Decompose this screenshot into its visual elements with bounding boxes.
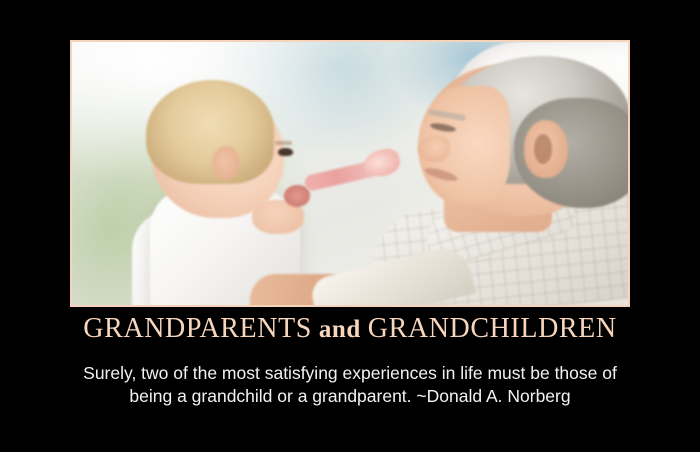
title-prefix: GRANDPARENTS (83, 313, 312, 344)
child-eye (278, 148, 293, 156)
title-conjunction: and (312, 316, 368, 343)
quote-line-2: being a grandchild or a grandparent. ~Do… (18, 385, 682, 408)
photo-frame (70, 40, 630, 307)
child-hair (146, 80, 274, 184)
title-suffix: GRANDCHILDREN (368, 313, 617, 344)
grandfather-nose (418, 136, 450, 162)
grandfather-ear-inner (534, 134, 552, 164)
demotivational-poster: GRANDPARENTS and GRANDCHILDREN Surely, t… (0, 0, 700, 452)
photograph (72, 42, 628, 305)
quote-line-1: Surely, two of the most satisfying exper… (18, 362, 682, 385)
child-eyebrow (275, 141, 292, 145)
poster-quote: Surely, two of the most satisfying exper… (18, 362, 682, 408)
child-ear (212, 146, 240, 180)
poster-title: GRANDPARENTS and GRANDCHILDREN (0, 313, 700, 345)
